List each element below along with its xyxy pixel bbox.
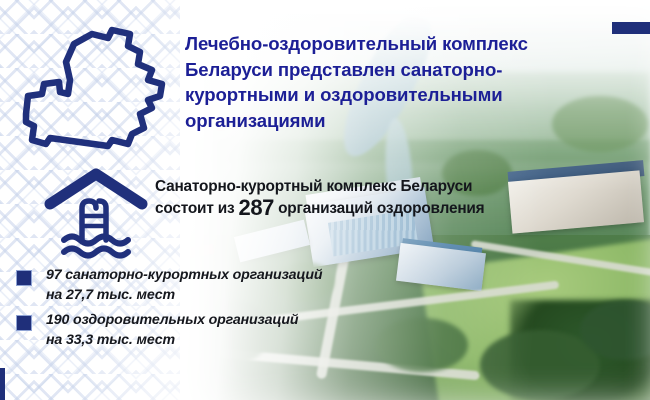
list-item-line-2: на 33,3 тыс. мест: [46, 331, 356, 351]
swimming-pool-under-roof-icon: [44, 168, 148, 260]
list-item-line-2: на 27,7 тыс. мест: [46, 286, 356, 306]
list-item-line-1: 97 санаторно-курортных организаций: [46, 267, 322, 283]
subheading: Санаторно-курортный комплекс Беларуси со…: [155, 176, 485, 219]
list-item-text: 97 санаторно-курортных организаций на 27…: [46, 267, 356, 305]
infographic-slide: Лечебно-оздоровительный комплекс Беларус…: [0, 0, 650, 400]
statistics-list: 97 санаторно-курортных организаций на 27…: [16, 266, 356, 356]
list-item-text: 190 оздоровительных организаций на 33,3 …: [46, 312, 356, 350]
decor-bar-top-right: [612, 22, 650, 34]
list-item: 97 санаторно-курортных организаций на 27…: [16, 266, 356, 305]
organization-count-value: 287: [239, 195, 275, 220]
page-title: Лечебно-оздоровительный комплекс Беларус…: [185, 31, 615, 133]
bullet-square-icon: [16, 315, 32, 331]
decor-bar-bottom-left: [0, 368, 5, 400]
bullet-square-icon: [16, 270, 32, 286]
belarus-map-outline-icon: [12, 22, 180, 162]
subheading-text-after: организаций оздоровления: [274, 200, 484, 217]
list-item-line-1: 190 оздоровительных организаций: [46, 312, 298, 328]
list-item: 190 оздоровительных организаций на 33,3 …: [16, 311, 356, 350]
